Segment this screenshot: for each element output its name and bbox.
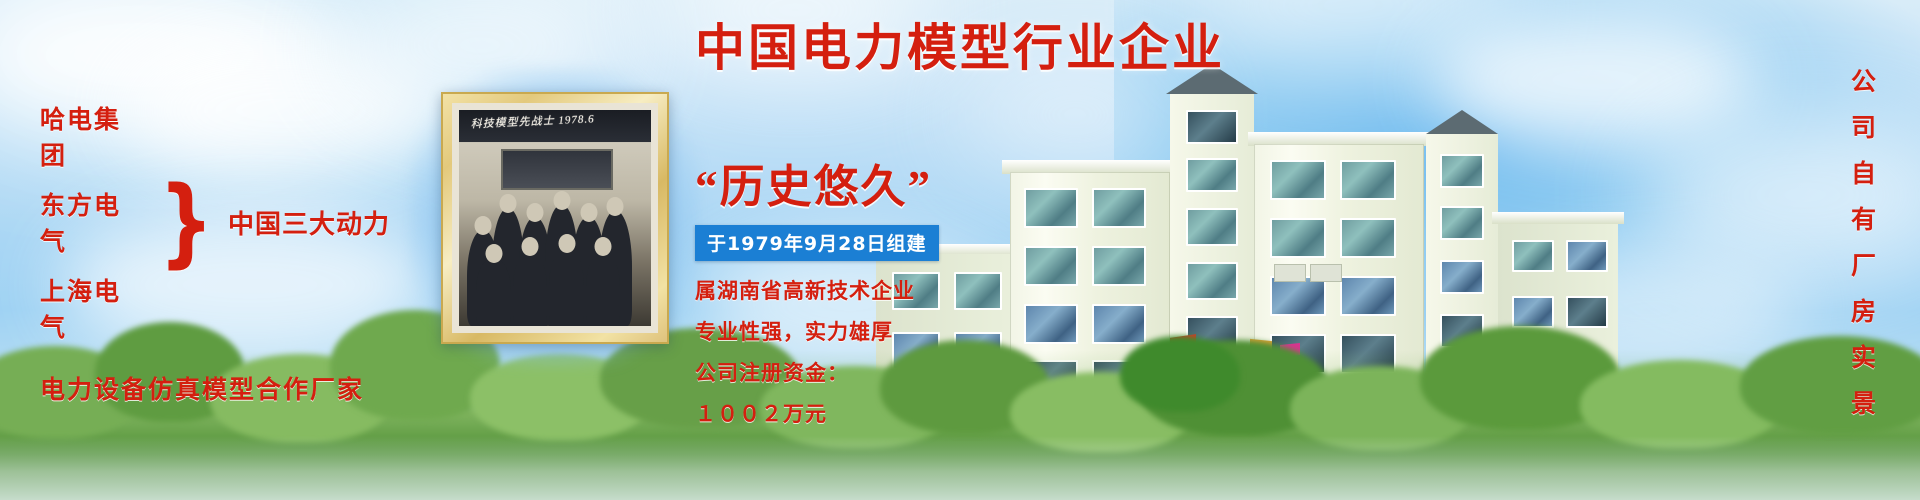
power-company-list: 哈电集团 东方电气 上海电气 [40, 100, 138, 344]
building-window [1092, 304, 1146, 344]
building-window [1024, 246, 1078, 286]
vertical-caption-char: 自 [1851, 154, 1876, 190]
photo-person [586, 251, 621, 326]
building-window [1512, 296, 1554, 328]
photo-person [549, 248, 584, 326]
vertical-caption-char: 司 [1851, 108, 1876, 144]
company-fact-item: 专业性强，实力雄厚 [695, 316, 975, 346]
building-window [1566, 296, 1608, 328]
history-quote: “历史悠久” [695, 150, 975, 215]
vertical-caption-char: 有 [1851, 200, 1876, 236]
company-facts-list: 属湖南省高新技术企业 专业性强，实力雄厚 公司注册资金： １００２万元 [695, 275, 975, 428]
photo-people-group [459, 170, 651, 326]
tree-blob [1740, 336, 1920, 434]
building-window [1440, 154, 1484, 188]
company-fact-item: １００２万元 [695, 398, 975, 428]
building-pitched-roof-right [1426, 110, 1498, 134]
company-banner: 科技模型先战士 1978.6 中国电力模型行业企业 [0, 0, 1920, 500]
building-window [1092, 246, 1146, 286]
building-window [1270, 218, 1326, 258]
company-fact-item: 公司注册资金： [695, 357, 975, 387]
air-conditioner-unit [1310, 264, 1342, 282]
building-tower-window [1186, 208, 1238, 246]
photo-person [513, 251, 548, 326]
vertical-caption-char: 景 [1851, 384, 1876, 420]
page-title: 中国电力模型行业企业 [0, 8, 1920, 80]
historic-photo-frame: 科技模型先战士 1978.6 [441, 92, 669, 344]
power-company-item: 东方电气 [40, 186, 138, 258]
left-text-block: 哈电集团 东方电气 上海电气 } 中国三大动力 电力设备仿真模型合作厂家 [40, 100, 390, 406]
quote-open-mark: “ [695, 162, 720, 212]
historic-group-photo: 科技模型先战士 1978.6 [459, 110, 651, 326]
three-powers-group: 哈电集团 东方电气 上海电气 } 中国三大动力 [40, 100, 390, 344]
photo-mat: 科技模型先战士 1978.6 [452, 103, 658, 333]
history-quote-text: 历史悠久 [720, 160, 908, 213]
power-company-item: 哈电集团 [40, 100, 138, 172]
building-window [1340, 218, 1396, 258]
company-fact-item: 属湖南省高新技术企业 [695, 275, 975, 305]
building-window [1270, 160, 1326, 200]
quote-close-mark: ” [908, 162, 933, 212]
history-text-block: “历史悠久” 于1979年9月28日组建 属湖南省高新技术企业 专业性强，实力雄… [695, 150, 975, 428]
vertical-caption-char: 房 [1851, 292, 1876, 328]
building-window [1024, 188, 1078, 228]
building-tower-window [1186, 158, 1238, 192]
tree-blob [1120, 336, 1240, 412]
building-tower-window [1186, 110, 1238, 144]
founding-date-badge: 于1979年9月28日组建 [695, 225, 939, 261]
building-window [1512, 240, 1554, 272]
building-window [1340, 276, 1396, 316]
vertical-caption-char: 实 [1851, 338, 1876, 374]
building-roof-far-right [1492, 212, 1624, 224]
partner-factory-tagline: 电力设备仿真模型合作厂家 [40, 370, 390, 406]
building-window [1092, 188, 1146, 228]
building-window [1440, 206, 1484, 240]
vertical-caption-char: 公 [1851, 62, 1876, 98]
power-company-item: 上海电气 [40, 272, 138, 344]
curly-brace-icon: } [158, 183, 213, 262]
three-powers-label: 中国三大动力 [228, 204, 390, 241]
building-window [1270, 276, 1326, 316]
building-window [1340, 160, 1396, 200]
building-tower-window [1186, 262, 1238, 300]
building-window [1440, 260, 1484, 294]
vertical-caption: 公 司 自 有 厂 房 实 景 [1851, 62, 1876, 420]
building-window [1024, 304, 1078, 344]
building-window [1566, 240, 1608, 272]
vertical-caption-char: 厂 [1851, 246, 1876, 282]
air-conditioner-unit [1274, 264, 1306, 282]
photo-person [476, 258, 511, 326]
